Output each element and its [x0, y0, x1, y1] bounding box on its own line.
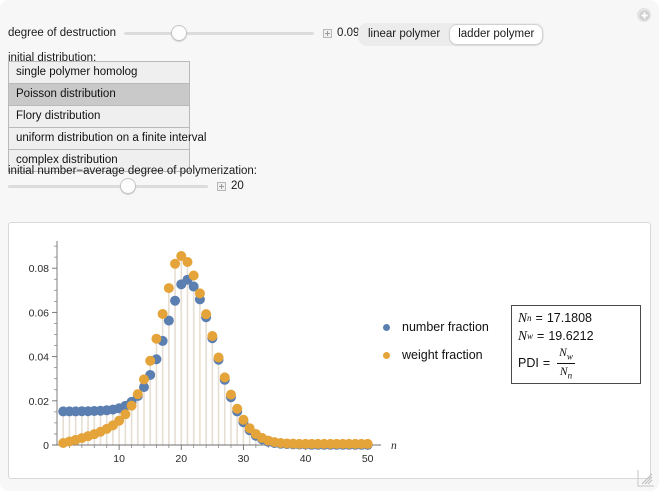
dist-item-poisson-distribution[interactable]: Poisson distribution — [9, 84, 189, 106]
data-point — [164, 283, 174, 293]
nw-subscript: w — [527, 331, 533, 341]
svg-text:10: 10 — [113, 453, 125, 465]
destruction-slider-track[interactable] — [124, 32, 314, 35]
svg-text:50: 50 — [362, 453, 374, 465]
destruction-label: degree of destruction — [8, 27, 116, 39]
dop-slider-thumb[interactable] — [120, 178, 136, 194]
svg-text:0.08: 0.08 — [29, 263, 50, 275]
data-point — [238, 415, 248, 425]
data-point — [170, 259, 180, 269]
dist-item-flory-distribution[interactable]: Flory distribution — [9, 106, 189, 128]
chart-stems — [63, 256, 367, 445]
data-point — [133, 389, 143, 399]
pdi-line: PDI = Nw Nn — [518, 346, 634, 380]
resize-grip-icon[interactable] — [637, 469, 655, 487]
pdi-numerator-sub: w — [567, 352, 573, 362]
pdi-numerator-symbol: N — [559, 347, 567, 359]
nw-value: 19.6212 — [548, 329, 593, 343]
dop-control-row: 20 — [8, 177, 244, 195]
plus-circle-icon[interactable] — [637, 8, 651, 22]
data-point — [207, 331, 217, 341]
data-point — [214, 352, 224, 362]
nw-line: Nw = 19.6212 — [518, 328, 634, 344]
data-point — [232, 404, 242, 414]
nn-value: 17.1808 — [547, 311, 592, 325]
dop-slider[interactable] — [8, 177, 208, 195]
dist-item-single-polymer-homolog[interactable]: single polymer homolog — [9, 62, 189, 84]
statistics-infobox: Nn = 17.1808 Nw = 19.6212 PDI = Nw Nn — [511, 305, 641, 384]
nw-symbol: N — [518, 328, 527, 344]
pdi-equals: = — [543, 356, 550, 370]
nw-equals: = — [537, 329, 544, 343]
legend-row-number-fraction: number fraction — [383, 320, 489, 334]
svg-text:0: 0 — [43, 440, 49, 452]
polymer-type-ladder-button[interactable]: ladder polymer — [449, 24, 543, 45]
legend-dot-number-fraction — [383, 324, 390, 331]
nn-equals: = — [536, 311, 543, 325]
data-point — [220, 372, 230, 382]
legend-row-weight-fraction: weight fraction — [383, 348, 489, 362]
nn-symbol: N — [518, 310, 527, 326]
data-point — [145, 356, 155, 366]
data-point — [201, 309, 211, 319]
svg-text:0.06: 0.06 — [29, 307, 50, 319]
pdi-denominator-symbol: N — [560, 366, 568, 378]
data-point — [363, 439, 373, 449]
legend-label-weight-fraction: weight fraction — [402, 348, 483, 362]
legend-dot-weight-fraction — [383, 352, 390, 359]
data-point — [170, 296, 180, 306]
destruction-control-row: degree of destruction 0.091 — [8, 24, 366, 42]
legend-label-number-fraction: number fraction — [402, 320, 489, 334]
data-point — [139, 374, 149, 384]
polymer-type-segmented: linear polymer ladder polymer — [358, 23, 544, 46]
dist-item-uniform-distribution[interactable]: uniform distribution on a finite interva… — [9, 128, 189, 150]
polymer-type-setter: linear polymer ladder polymer — [358, 23, 544, 46]
svg-text:0.02: 0.02 — [29, 396, 50, 408]
data-point — [189, 271, 199, 281]
dop-slider-track[interactable] — [8, 185, 208, 188]
dop-label: initial number−average degree of polymer… — [8, 165, 257, 177]
data-point — [182, 257, 192, 267]
data-point — [158, 309, 168, 319]
polymer-type-linear-button[interactable]: linear polymer — [359, 24, 449, 45]
destruction-slider[interactable] — [124, 24, 314, 42]
initial-distribution-list: single polymer homolog Poisson distribut… — [8, 61, 190, 172]
svg-text:30: 30 — [238, 453, 250, 465]
destruction-expander-icon[interactable] — [323, 29, 332, 38]
data-point — [127, 401, 137, 411]
svg-text:20: 20 — [175, 453, 187, 465]
pdi-numerator: Nw — [557, 346, 575, 364]
pdi-denominator-sub: n — [568, 370, 573, 380]
destruction-slider-thumb[interactable] — [171, 25, 187, 41]
dop-expander-icon[interactable] — [217, 182, 226, 191]
pdi-fraction: Nw Nn — [557, 346, 575, 380]
data-point — [195, 288, 205, 298]
manipulate-window: degree of destruction 0.091 linear polym… — [0, 0, 659, 491]
pdi-denominator: Nn — [558, 364, 574, 381]
pdi-label: PDI — [518, 356, 539, 370]
data-point — [120, 409, 130, 419]
data-point — [226, 390, 236, 400]
nn-subscript: n — [527, 313, 532, 323]
data-point — [151, 334, 161, 344]
nn-line: Nn = 17.1808 — [518, 310, 634, 326]
x-axis-label: n — [391, 440, 397, 452]
dop-value: 20 — [231, 180, 244, 192]
svg-text:40: 40 — [300, 453, 312, 465]
chart-legend: number fraction weight fraction — [383, 320, 489, 376]
svg-text:0.04: 0.04 — [29, 352, 50, 364]
chart-points — [58, 251, 372, 450]
